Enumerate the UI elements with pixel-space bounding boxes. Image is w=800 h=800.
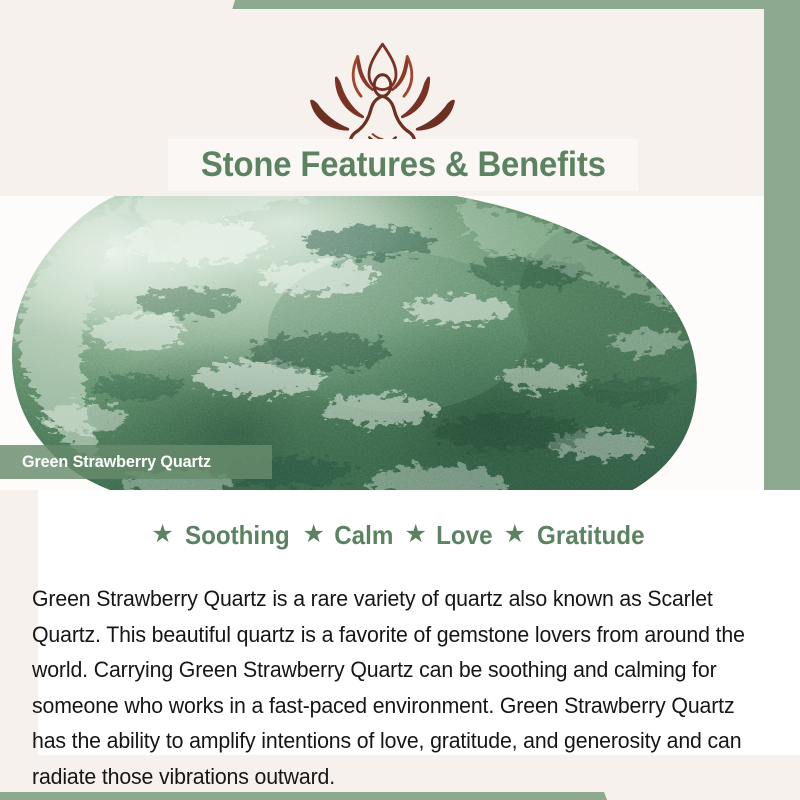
hero-caption-label: Green Strawberry Quartz <box>22 452 211 472</box>
keyword-item-love: ★ Love <box>404 520 494 551</box>
keyword-item-soothing: ★ Soothing <box>151 520 293 551</box>
keyword-label: Love <box>436 520 492 551</box>
star-icon: ★ <box>151 522 173 547</box>
infographic-card: BUDDHA STONES Stone Features & Benefits <box>0 0 800 800</box>
keyword-label: Soothing <box>185 520 290 551</box>
title-plate: Stone Features & Benefits <box>168 139 638 191</box>
hero-caption-bar: Green Strawberry Quartz <box>0 445 272 479</box>
star-icon: ★ <box>504 522 526 547</box>
star-icon: ★ <box>302 522 324 547</box>
description-paragraph: Green Strawberry Quartz is a rare variet… <box>32 581 750 794</box>
keyword-item-calm: ★ Calm <box>302 520 395 551</box>
hero-image-container: Green Strawberry Quartz <box>0 196 764 490</box>
keyword-label: Gratitude <box>537 520 644 551</box>
keyword-label: Calm <box>334 520 393 551</box>
keyword-list: ★ Soothing ★ Calm ★ Love ★ Gratitude <box>38 516 762 554</box>
keyword-item-gratitude: ★ Gratitude <box>504 520 649 551</box>
star-icon: ★ <box>404 522 426 547</box>
page-title: Stone Features & Benefits <box>201 145 606 185</box>
